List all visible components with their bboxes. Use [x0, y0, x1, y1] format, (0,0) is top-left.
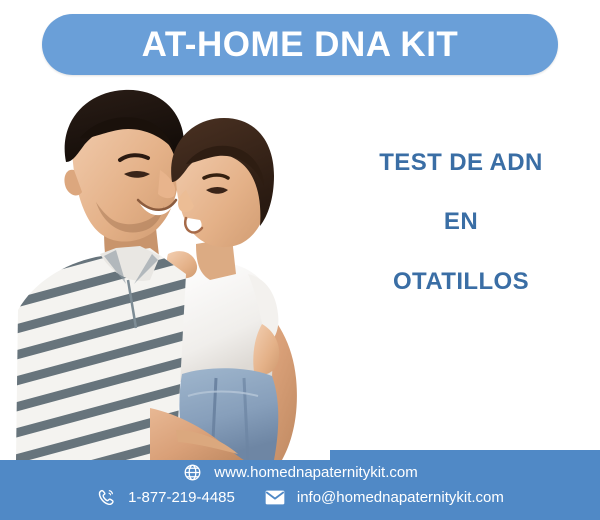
website-label: www.homednapaternitykit.com [214, 465, 417, 480]
website-contact[interactable]: www.homednapaternitykit.com [182, 463, 417, 483]
footer-contact-group: www.homednapaternitykit.com 1-877-219-44… [0, 450, 600, 520]
email-contact[interactable]: info@homednapaternitykit.com [265, 488, 504, 508]
headline-line-3: OTATILLOS [330, 269, 592, 295]
headline-block: TEST DE ADN EN OTATILLOS [330, 150, 592, 295]
headline-line-2: EN [330, 209, 592, 235]
envelope-icon [265, 488, 285, 508]
father-and-child-image [0, 78, 330, 460]
phone-icon [96, 488, 116, 508]
email-label: info@homednapaternitykit.com [297, 490, 504, 505]
footer-row-phone-email: 1-877-219-4485 info@homednapaternitykit.… [96, 488, 504, 508]
poster-canvas: AT-HOME DNA KIT [0, 0, 600, 520]
phone-label: 1-877-219-4485 [128, 490, 235, 505]
phone-contact[interactable]: 1-877-219-4485 [96, 488, 235, 508]
header-banner: AT-HOME DNA KIT [42, 14, 558, 75]
hero-photo [0, 78, 330, 460]
headline-line-1: TEST DE ADN [330, 150, 592, 176]
globe-icon [182, 463, 202, 483]
banner-title: AT-HOME DNA KIT [142, 27, 459, 62]
footer-row-website: www.homednapaternitykit.com [182, 463, 417, 483]
